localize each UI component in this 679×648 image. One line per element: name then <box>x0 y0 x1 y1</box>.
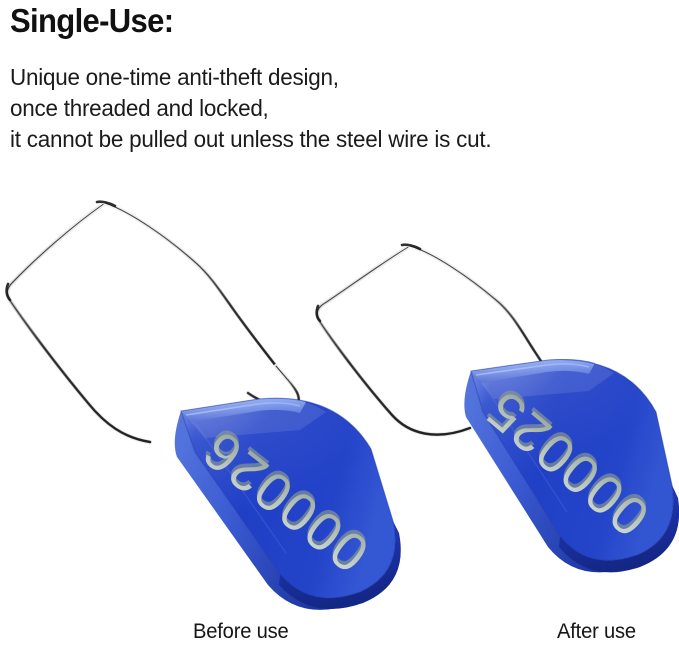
caption-after-use: After use <box>557 620 636 644</box>
caption-before-use: Before use <box>193 620 289 644</box>
seal-body-before: 000026 000026 <box>130 350 401 610</box>
seal-body-after: 000025 000025 <box>422 314 679 572</box>
product-feature-image: Single-Use: Unique one-time anti-theft d… <box>0 0 679 648</box>
seals-illustration: 000026 000026 <box>0 0 679 648</box>
seal-before-use: 000026 000026 <box>7 202 401 610</box>
